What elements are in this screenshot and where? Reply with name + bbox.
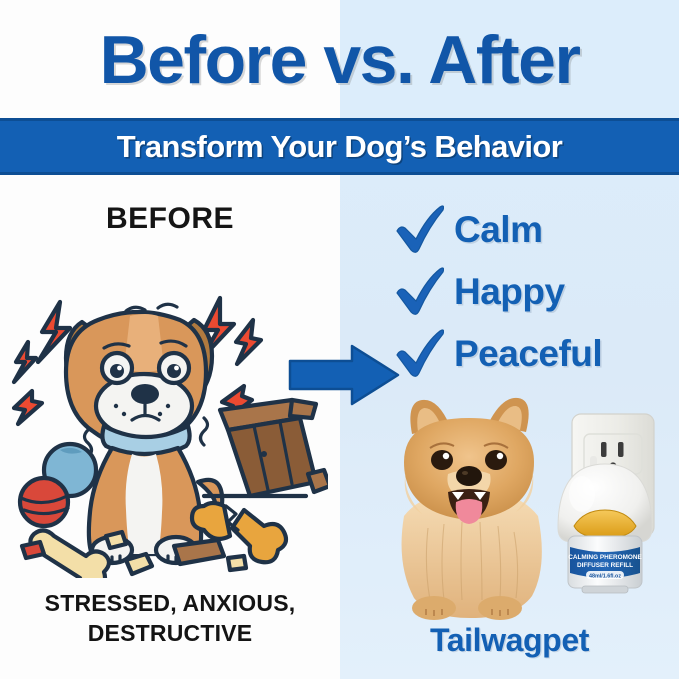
plug-in-diffuser: CALMING PHEROMONE DIFFUSER REFILL 48ml/1… [546, 402, 679, 597]
anxious-dog-illustration: .ol { stroke:#1f3247; stroke-width:4.2; … [8, 258, 328, 578]
worry-marks [126, 304, 177, 311]
check-icon [392, 329, 444, 377]
check-icon [392, 205, 444, 253]
subtitle-band: Transform Your Dog’s Behavior [0, 118, 679, 175]
before-caption-line2: DESTRUCTIVE [10, 618, 330, 648]
brand-name: Tailwagpet [340, 622, 679, 659]
happy-pomeranian-photo [368, 378, 573, 623]
benefit-item-happy: Happy [392, 262, 679, 320]
bottle-label-line2: DIFFUSER REFILL [577, 562, 633, 569]
tipped-over-stool [220, 400, 328, 496]
refill-bottle: CALMING PHEROMONE DIFFUSER REFILL 48ml/1… [568, 536, 642, 593]
benefit-label: Happy [454, 273, 565, 310]
check-icon [392, 267, 444, 315]
before-caption: STRESSED, ANXIOUS, DESTRUCTIVE [10, 588, 330, 649]
benefit-item-calm: Calm [392, 200, 679, 258]
benefit-item-peaceful: Peaceful [392, 324, 679, 382]
before-after-infographic: Before vs. After Transform Your Dog’s Be… [0, 0, 679, 679]
bottle-label-volume: 48ml/1.6fl.oz [589, 573, 621, 579]
benefit-label: Calm [454, 211, 542, 248]
benefit-label: Peaceful [454, 335, 602, 372]
page-subtitle: Transform Your Dog’s Behavior [117, 129, 562, 165]
before-label: BEFORE [0, 202, 340, 236]
page-title: Before vs. After [0, 26, 679, 94]
before-caption-line1: STRESSED, ANXIOUS, [10, 588, 330, 618]
chew-toy-balls [20, 444, 96, 526]
bottle-label-line1: CALMING PHEROMONE [568, 554, 642, 561]
benefits-list: Calm Happy Peaceful [392, 200, 679, 386]
